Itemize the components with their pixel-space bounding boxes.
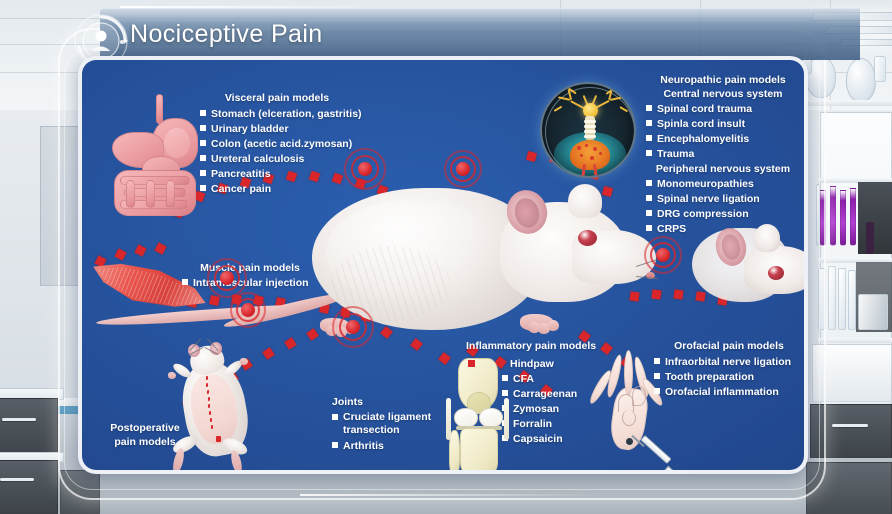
postoperative-pain-models-block: Postoperative pain models	[90, 422, 200, 448]
list-item: Orofacial inflammation	[654, 386, 804, 398]
postoperative-rat-illustration	[160, 340, 280, 474]
postoperative-heading-line2: pain models	[90, 436, 200, 448]
glassware	[838, 268, 846, 330]
list-item: Spinal cord trauma	[646, 103, 808, 115]
visceral-heading: Visceral pain models	[182, 92, 372, 104]
list-item-label: Tooth preparation	[665, 371, 754, 383]
glassware	[858, 294, 888, 330]
frame-highlight	[300, 494, 600, 496]
list-item-label: Infraorbital nerve ligation	[665, 356, 791, 368]
list-item-label: Cancer pain	[211, 183, 271, 195]
list-item-label: Capsaicin	[513, 433, 563, 445]
connector-dot	[134, 244, 146, 256]
bullet-square	[200, 170, 206, 176]
bullet-square	[646, 120, 652, 126]
connector-dot	[154, 242, 166, 254]
list-item-label: Stomach (elceration, gastritis)	[211, 108, 362, 120]
page-title: Nociceptive Pain	[130, 20, 323, 49]
list-item-label: Spinla cord insult	[657, 118, 745, 130]
slide-canvas: Nociceptive Pain	[0, 0, 892, 514]
neuropathic-subheading-cns: Central nervous system	[638, 88, 808, 100]
postoperative-heading-line1: Postoperative	[90, 422, 200, 434]
list-item-label: Arthritis	[343, 440, 384, 452]
list-item-label: Encephalomyelitis	[657, 133, 749, 145]
bullet-square	[646, 105, 652, 111]
shelf	[818, 338, 892, 343]
bullet-square	[654, 388, 660, 394]
bullet-square	[332, 442, 338, 448]
list-item-label: Spinal cord trauma	[657, 103, 752, 115]
list-item: Cruciate ligament transection	[332, 411, 452, 437]
bullet-square	[200, 125, 206, 131]
bullet-square	[654, 373, 660, 379]
hindpaw-pain-marker	[332, 306, 374, 348]
list-item: Tooth preparation	[654, 371, 804, 383]
list-item: Infraorbital nerve ligation	[654, 356, 804, 368]
tail-base-pain-marker	[230, 292, 266, 328]
bullet-square	[200, 140, 206, 146]
bullet-square	[182, 279, 188, 285]
orofacial-heading: Orofacial pain models	[654, 340, 804, 352]
bullet-square	[654, 358, 660, 364]
bullet-square	[200, 185, 206, 191]
list-item-label: Urinary bladder	[211, 123, 289, 135]
glassware	[874, 56, 886, 82]
cabinet-handle	[832, 424, 868, 427]
list-item-label: Carrageenan	[513, 388, 577, 400]
list-item: Urinary bladder	[200, 123, 372, 135]
neuropathic-heading: Neuropathic pain models	[638, 74, 808, 86]
cabinet-handle	[2, 418, 36, 421]
glassware	[848, 270, 856, 330]
test-tube	[850, 188, 856, 246]
list-item: Encephalomyelitis	[646, 133, 808, 145]
joints-block: Joints Cruciate ligament transection Art…	[332, 396, 452, 452]
cabinet-handle	[0, 478, 34, 481]
list-item: Spinla cord insult	[646, 118, 808, 130]
back-pain-marker	[344, 148, 386, 190]
bullet-square	[646, 135, 652, 141]
dark-shelf-recess	[858, 182, 892, 254]
bullet-square	[200, 110, 206, 116]
test-tube	[840, 190, 846, 246]
hanging-flask	[846, 58, 876, 102]
snout-pain-marker	[644, 236, 682, 274]
reagent-bottle	[866, 222, 874, 254]
bullet-square	[200, 155, 206, 161]
list-item-label: Cruciate ligament transection	[343, 411, 452, 437]
list-item: Stomach (elceration, gastritis)	[200, 108, 372, 120]
test-tube	[830, 186, 836, 246]
rat-head-illustration	[682, 210, 808, 330]
bullet-square	[332, 414, 338, 420]
list-item-label: Colon (acetic acid.zymosan)	[211, 138, 352, 150]
head-pain-marker	[444, 150, 482, 188]
list-item-label: Orofacial inflammation	[665, 386, 779, 398]
list-item-label: Pancreatitis	[211, 168, 271, 180]
joints-heading: Joints	[332, 396, 452, 408]
list-item: Arthritis	[332, 440, 452, 452]
knee-joint-illustration	[440, 358, 520, 474]
cabinet	[0, 398, 58, 460]
cabinet	[0, 460, 58, 514]
content-panel: Visceral pain models Stomach (elceration…	[78, 56, 808, 474]
orofacial-pain-models-block: Orofacial pain models Infraorbital nerve…	[654, 340, 804, 398]
glassware	[828, 266, 836, 330]
